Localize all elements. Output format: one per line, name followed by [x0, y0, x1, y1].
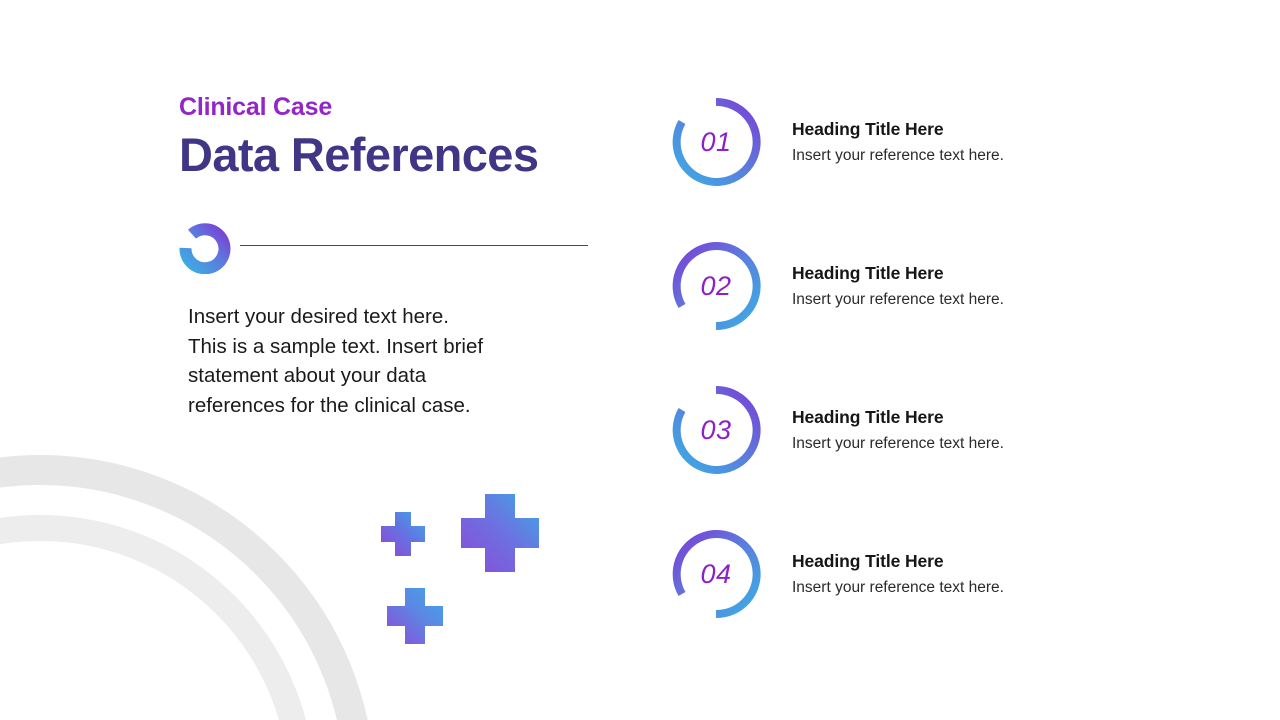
- ring-arc-icon: [179, 222, 231, 274]
- eyebrow-label: Clinical Case: [179, 94, 609, 122]
- list-item-heading: Heading Title Here: [792, 551, 1122, 573]
- list-item[interactable]: 01 Heading Title Here Insert your refere…: [668, 94, 1138, 190]
- list-item-text: Heading Title Here Insert your reference…: [792, 407, 1122, 454]
- list-item-number: 02: [668, 238, 764, 334]
- title-divider-line: [240, 245, 588, 246]
- background-arc-outer: [0, 470, 360, 720]
- list-item[interactable]: 03 Heading Title Here Insert your refere…: [668, 382, 1138, 478]
- list-item-heading: Heading Title Here: [792, 263, 1122, 285]
- plus-shapes-decoration: [375, 490, 545, 655]
- medical-plus-icon: [461, 494, 539, 572]
- body-line: references for the clinical case.: [188, 391, 540, 421]
- list-item-text: Heading Title Here Insert your reference…: [792, 119, 1122, 166]
- list-item-subtext: Insert your reference text here.: [792, 578, 1122, 598]
- list-item-number: 03: [668, 382, 764, 478]
- list-item-heading: Heading Title Here: [792, 119, 1122, 141]
- body-line: Insert your desired text here.: [188, 302, 540, 332]
- list-item-number: 04: [668, 526, 764, 622]
- slide-canvas: Clinical Case Data References Insert you…: [0, 0, 1280, 720]
- list-item[interactable]: 04 Heading Title Here Insert your refere…: [668, 526, 1138, 622]
- divider-row: [179, 222, 599, 274]
- background-arc-inner: [0, 528, 302, 720]
- list-item-subtext: Insert your reference text here.: [792, 434, 1122, 454]
- reference-items-list: 01 Heading Title Here Insert your refere…: [668, 94, 1138, 622]
- body-line: statement about your data: [188, 361, 540, 391]
- medical-plus-icon: [387, 588, 443, 644]
- list-item-heading: Heading Title Here: [792, 407, 1122, 429]
- list-item-subtext: Insert your reference text here.: [792, 146, 1122, 166]
- list-item-text: Heading Title Here Insert your reference…: [792, 263, 1122, 310]
- medical-plus-icon: [381, 512, 425, 556]
- list-item-subtext: Insert your reference text here.: [792, 290, 1122, 310]
- body-paragraph: Insert your desired text here. This is a…: [188, 302, 540, 420]
- page-title: Data References: [179, 128, 609, 182]
- title-block: Clinical Case Data References: [179, 94, 609, 182]
- body-line: This is a sample text. Insert brief: [188, 332, 540, 362]
- list-item-text: Heading Title Here Insert your reference…: [792, 551, 1122, 598]
- list-item-number: 01: [668, 94, 764, 190]
- list-item[interactable]: 02 Heading Title Here Insert your refere…: [668, 238, 1138, 334]
